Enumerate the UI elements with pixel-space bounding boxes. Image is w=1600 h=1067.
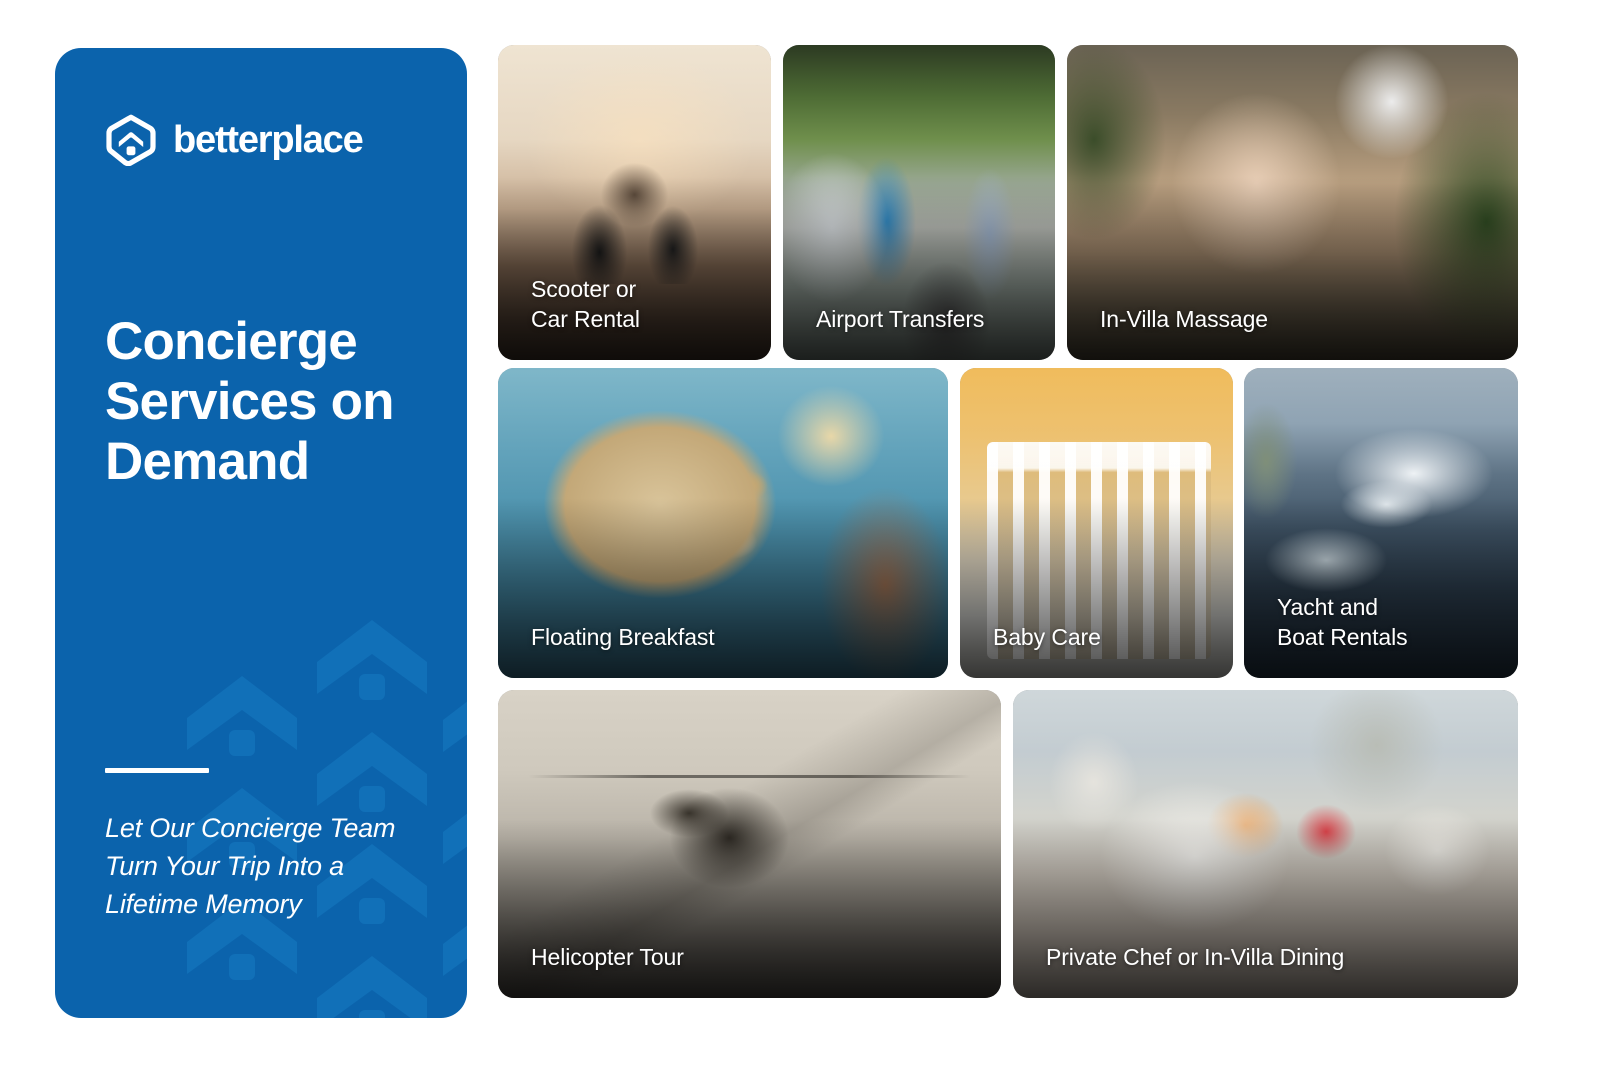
service-card-label: Baby Care [993,623,1101,652]
brand-logo[interactable]: betterplace [105,114,421,166]
brand-panel: betterplace Concierge Services on Demand… [55,48,467,1018]
poster-page: betterplace Concierge Services on Demand… [0,0,1600,1067]
tagline: Let Our Concierge Team Turn Your Trip In… [105,809,421,924]
service-card-private-chef-or-in-villa-dining[interactable]: Private Chef or In-Villa Dining [1013,690,1518,998]
service-card-baby-care[interactable]: Baby Care [960,368,1233,678]
service-card-label: Airport Transfers [816,305,984,334]
hexagon-house-icon [105,114,157,166]
service-card-yacht-and-boat-rentals[interactable]: Yacht and Boat Rentals [1244,368,1518,678]
service-card-label: Floating Breakfast [531,623,715,652]
service-card-label: Helicopter Tour [531,943,684,972]
brand-wordmark: betterplace [173,119,363,162]
service-card-in-villa-massage[interactable]: In-Villa Massage [1067,45,1518,360]
service-card-floating-breakfast[interactable]: Floating Breakfast [498,368,948,678]
services-grid: Scooter or Car Rental Airport Transfers … [498,45,1518,998]
page-title: Concierge Services on Demand [105,312,421,492]
service-card-scooter-or-car-rental[interactable]: Scooter or Car Rental [498,45,771,360]
service-card-label: In-Villa Massage [1100,305,1268,334]
service-card-airport-transfers[interactable]: Airport Transfers [783,45,1055,360]
service-card-label: Private Chef or In-Villa Dining [1046,943,1344,972]
service-card-label: Yacht and Boat Rentals [1277,593,1408,652]
divider-rule [105,768,209,773]
service-card-helicopter-tour[interactable]: Helicopter Tour [498,690,1001,998]
service-card-label: Scooter or Car Rental [531,275,640,334]
